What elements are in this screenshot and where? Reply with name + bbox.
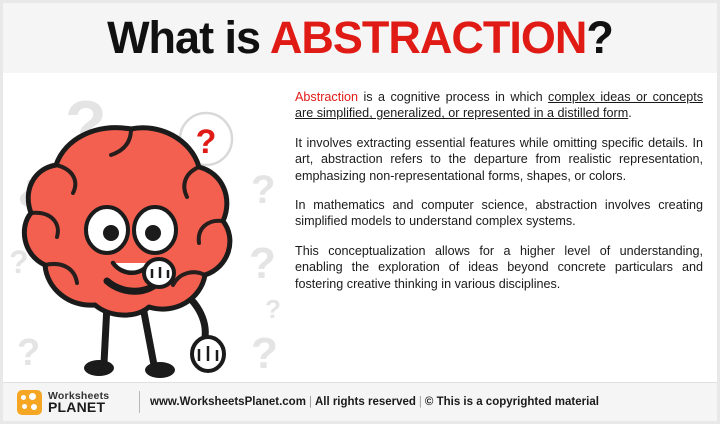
paragraph-3: In mathematics and computer science, abs… [295, 197, 703, 230]
p1-after: . [628, 106, 632, 120]
title-accent: ABSTRACTION [270, 12, 586, 63]
worksheet-page: What is ABSTRACTION? ? ? ? ? ? ? ? ? [0, 0, 720, 424]
paragraph-2: It involves extracting essential feature… [295, 135, 703, 184]
svg-text:?: ? [251, 329, 278, 378]
paragraph-4: This conceptualization allows for a high… [295, 243, 703, 292]
main-content: ? ? ? ? ? ? ? ? ? [3, 73, 717, 388]
footer-credits: www.WorksheetsPlanet.com|All rights rese… [150, 396, 599, 408]
brand-logo: Worksheets PLANET [17, 390, 137, 415]
svg-text:?: ? [196, 123, 217, 161]
definition-text: Abstraction is a cognitive process in wh… [295, 89, 703, 389]
page-title-bar: What is ABSTRACTION? [3, 3, 717, 73]
svg-text:?: ? [249, 239, 276, 288]
brain-feet [84, 360, 175, 378]
footer-rights: All rights reserved [315, 396, 416, 408]
keyword-abstraction: Abstraction [295, 90, 358, 104]
brain-illustration: ? ? ? ? ? ? ? ? ? [3, 73, 293, 388]
footer-sep-1: | [306, 396, 315, 408]
brand-line-2: PLANET [48, 402, 109, 413]
footer-sep-2: | [416, 396, 425, 408]
svg-text:?: ? [265, 294, 281, 324]
brand-name: Worksheets PLANET [48, 391, 109, 413]
footer-divider [139, 391, 140, 413]
svg-text:?: ? [251, 168, 275, 212]
footer-website[interactable]: www.WorksheetsPlanet.com [150, 396, 306, 408]
paragraph-1: Abstraction is a cognitive process in wh… [295, 89, 703, 122]
p1-before: is a cognitive process in which [358, 90, 548, 104]
page-title: What is ABSTRACTION? [107, 12, 613, 64]
title-prefix: What is [107, 12, 270, 63]
svg-text:?: ? [17, 332, 40, 374]
title-suffix: ? [586, 12, 613, 63]
page-footer: Worksheets PLANET www.WorksheetsPlanet.c… [3, 382, 717, 421]
footer-copyright: © This is a copyrighted material [425, 396, 599, 408]
planet-icon [17, 390, 42, 415]
brain-left-hand [144, 259, 174, 287]
